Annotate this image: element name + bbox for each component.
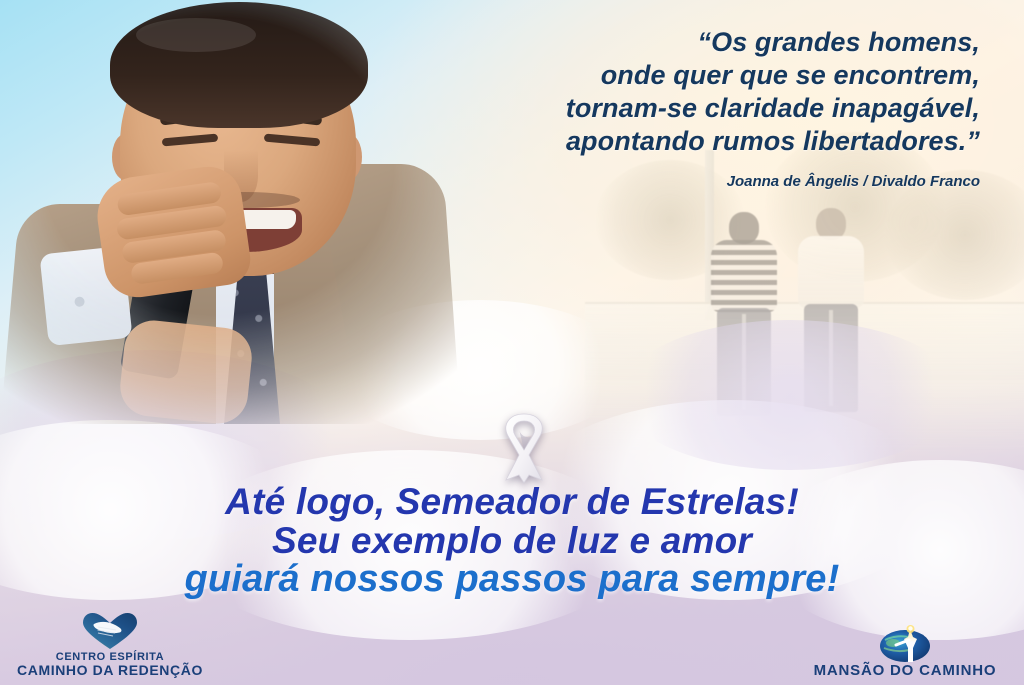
headline-line-3: guiará nossos passos para sempre! [0,560,1024,599]
headline-line-2: Seu exemplo de luz e amor [0,521,1024,560]
quote-line-4: apontando rumos libertadores.” [440,125,980,158]
hand-resting-on-chin [92,162,253,301]
scene-person-legs [717,308,771,416]
background-plaza-scene [585,150,1024,450]
quote-block: “Os grandes homens, onde quer que se enc… [440,26,980,190]
scene-person-striped [711,212,777,418]
quote-attribution: Joanna de Ângelis / Divaldo Franco [440,173,980,190]
scene-person-torso [798,236,864,308]
portrait-divaldo [0,0,462,424]
logo-mansao-do-caminho: MANSÃO DO CAMINHO [800,624,1010,677]
globe-with-figure-icon [800,624,1010,664]
cuff-button [74,296,85,307]
hair [110,2,368,128]
scene-person-legs [804,304,858,412]
quote-line-1: “Os grandes homens, [440,26,980,59]
logo-right-line-1: MANSÃO DO CAMINHO [800,664,1010,677]
quote-line-2: onde quer que se encontrem, [440,59,980,92]
hand-holding-microphone [117,318,254,427]
logo-centro-espirita: CENTRO ESPÍRITA CAMINHO DA REDENÇÃO [10,611,210,677]
quote-line-3: tornam-se claridade inapagável, [440,92,980,125]
memorial-poster: “Os grandes homens, onde quer que se enc… [0,0,1024,685]
scene-person-torso [711,240,777,312]
heart-with-hands-icon [10,611,210,651]
white-ribbon-icon [489,409,559,483]
headline-block: Até logo, Semeador de Estrelas! Seu exem… [0,482,1024,599]
logo-left-line-2: CAMINHO DA REDENÇÃO [10,664,210,677]
scene-person-white [795,208,867,418]
headline-line-1: Até logo, Semeador de Estrelas! [0,482,1024,521]
